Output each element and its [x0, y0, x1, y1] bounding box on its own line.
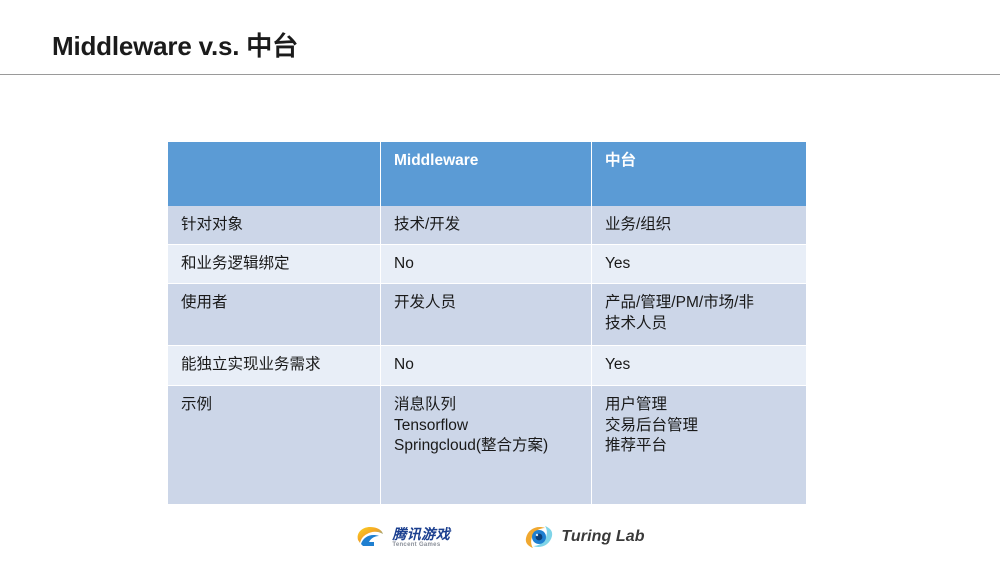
comparison-table-container: Middleware 中台 针对对象 技术/开发 业务/组织 和业务逻辑绑定 N…: [168, 142, 806, 504]
middleware-cell: No: [381, 245, 592, 284]
tencent-games-label-cn: 腾讯游戏: [392, 527, 450, 541]
cell-line: 业务/组织: [605, 215, 794, 236]
middleware-cell: 消息队列 Tensorflow Springcloud(整合方案): [381, 386, 592, 504]
column-header-zhongtai: 中台: [592, 142, 806, 206]
tencent-games-logo: 腾讯游戏 Tencent Games: [355, 524, 450, 550]
footer-logos: 腾讯游戏 Tencent Games Turing Lab: [0, 515, 1000, 559]
zhongtai-cell: 用户管理 交易后台管理 推荐平台: [592, 386, 806, 504]
cell-line: 产品/管理/PM/市场/非: [605, 293, 794, 314]
row-label-cell: 针对对象: [168, 206, 381, 245]
turing-lab-eye-logo-icon: [524, 524, 554, 550]
table-row: 针对对象 技术/开发 业务/组织: [168, 206, 806, 245]
page-title: Middleware v.s. 中台: [52, 26, 298, 63]
table-header-row: Middleware 中台: [168, 142, 806, 206]
row-label-cell: 能独立实现业务需求: [168, 346, 381, 386]
zhongtai-cell: Yes: [592, 245, 806, 284]
cell-line: 技术/开发: [394, 215, 580, 236]
cell-line: Yes: [605, 355, 794, 376]
cell-line: Tensorflow: [394, 416, 580, 437]
turing-lab-logo: Turing Lab: [524, 524, 644, 550]
column-header-middleware: Middleware: [381, 142, 592, 206]
zhongtai-cell: Yes: [592, 346, 806, 386]
comparison-table: Middleware 中台 针对对象 技术/开发 业务/组织 和业务逻辑绑定 N…: [168, 142, 806, 504]
row-label-cell: 使用者: [168, 284, 381, 346]
table-row: 使用者 开发人员 产品/管理/PM/市场/非 技术人员: [168, 284, 806, 346]
cell-line: Yes: [605, 254, 794, 275]
table-header: Middleware 中台: [168, 142, 806, 206]
cell-line: 消息队列: [394, 395, 580, 416]
column-header-attribute: [168, 142, 381, 206]
middleware-cell: 技术/开发: [381, 206, 592, 245]
tencent-games-logo-icon: [355, 524, 385, 550]
turing-lab-label: Turing Lab: [561, 528, 644, 546]
cell-line: Springcloud(整合方案): [394, 436, 580, 457]
cell-line: No: [394, 254, 580, 275]
table-row: 能独立实现业务需求 No Yes: [168, 346, 806, 386]
zhongtai-cell: 产品/管理/PM/市场/非 技术人员: [592, 284, 806, 346]
cell-line: 用户管理: [605, 395, 794, 416]
table-row: 和业务逻辑绑定 No Yes: [168, 245, 806, 284]
cell-line: No: [394, 355, 580, 376]
title-divider: [0, 74, 1000, 75]
tencent-games-label-en: Tencent Games: [392, 542, 450, 548]
cell-line: 推荐平台: [605, 436, 794, 457]
table-row: 示例 消息队列 Tensorflow Springcloud(整合方案) 用户管…: [168, 386, 806, 504]
row-label-cell: 示例: [168, 386, 381, 504]
tencent-games-wordmark: 腾讯游戏 Tencent Games: [392, 527, 450, 548]
table-body: 针对对象 技术/开发 业务/组织 和业务逻辑绑定 No Yes 使用者: [168, 206, 806, 504]
middleware-cell: No: [381, 346, 592, 386]
cell-line: 开发人员: [394, 293, 580, 314]
cell-line: 交易后台管理: [605, 416, 794, 437]
zhongtai-cell: 业务/组织: [592, 206, 806, 245]
row-label-cell: 和业务逻辑绑定: [168, 245, 381, 284]
cell-line: 技术人员: [605, 314, 794, 335]
middleware-cell: 开发人员: [381, 284, 592, 346]
